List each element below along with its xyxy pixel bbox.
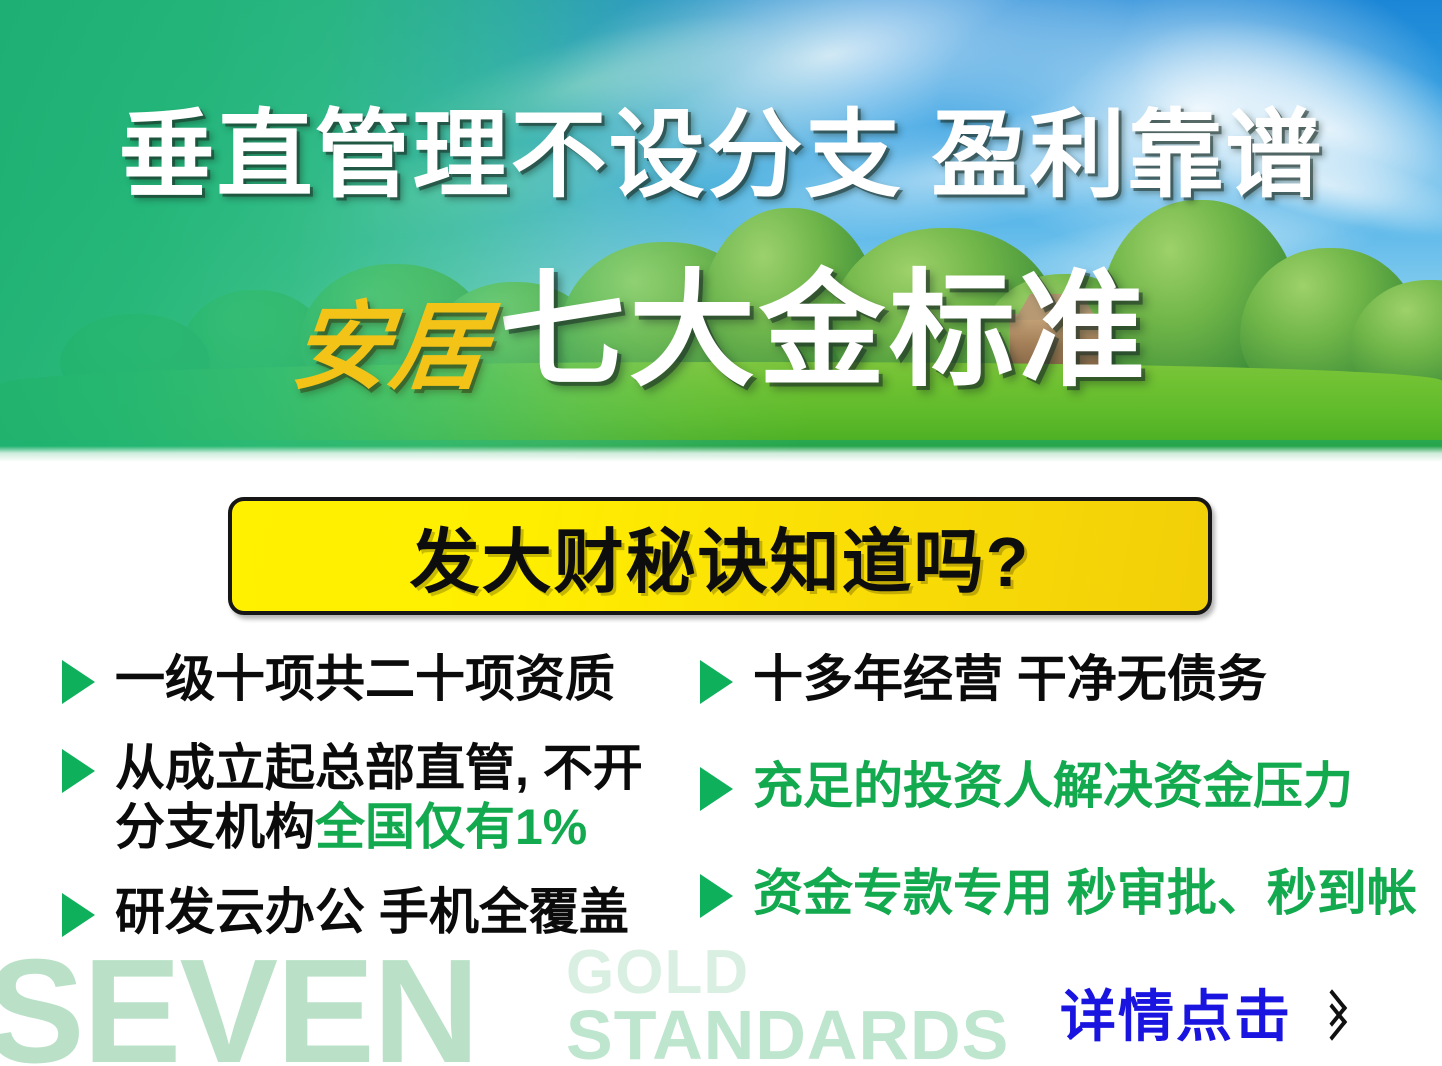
triangle-right-icon	[62, 749, 95, 793]
feature-text: 十多年经营 干净无债务	[753, 650, 1267, 709]
hero-headline: 垂直管理不设分支 盈利靠谱	[0, 108, 1442, 204]
feature-item-qualifications: 一级十项共二十项资质	[62, 650, 702, 709]
feature-text: 从成立起总部直管, 不开 分支机构全国仅有1%	[115, 739, 643, 857]
feature-line-highlight: 全国仅有1%	[315, 799, 587, 855]
triangle-right-icon	[62, 893, 95, 937]
feature-line: 一级十项共二十项资质	[115, 650, 615, 709]
feature-text: 一级十项共二十项资质	[115, 650, 615, 709]
feature-line: 研发云办公 手机全覆盖	[115, 883, 629, 942]
highlight-banner[interactable]: 发大财秘诀知道吗?	[228, 497, 1212, 615]
triangle-right-icon	[700, 660, 733, 704]
hero-subheadline: 安居七大金标准	[0, 268, 1442, 395]
triangle-right-icon	[700, 874, 733, 918]
chevron-right-icon	[1318, 990, 1342, 1036]
feature-item-headquarters-direct: 从成立起总部直管, 不开 分支机构全国仅有1%	[62, 739, 702, 857]
feature-line: 分支机构全国仅有1%	[115, 798, 643, 857]
feature-section: 一级十项共二十项资质 从成立起总部直管, 不开 分支机构全国仅有1% 研发云办公…	[0, 650, 1442, 990]
feature-line: 十多年经营 干净无债务	[753, 650, 1267, 709]
feature-line: 资金专款专用 秒审批、秒到帐	[753, 864, 1417, 923]
feature-item-investor-capital: 充足的投资人解决资金压力	[700, 757, 1420, 816]
hero-subline: 七大金标准	[499, 268, 1149, 394]
banner-bottom-fade	[0, 446, 1442, 462]
feature-item-decade-operation: 十多年经营 干净无债务	[700, 650, 1420, 709]
feature-text: 充足的投资人解决资金压力	[753, 757, 1353, 816]
feature-line: 从成立起总部直管, 不开	[115, 739, 643, 798]
hero-banner: 垂直管理不设分支 盈利靠谱 安居七大金标准	[0, 0, 1442, 462]
watermark-line-standards: STANDARDS	[566, 1000, 1009, 1066]
triangle-right-icon	[62, 660, 95, 704]
feature-item-cloud-office: 研发云办公 手机全覆盖	[62, 883, 702, 942]
feature-item-dedicated-funds: 资金专款专用 秒审批、秒到帐	[700, 864, 1420, 923]
brand-word: 安居	[288, 299, 494, 395]
triangle-right-icon	[700, 767, 733, 811]
details-cta-button[interactable]: 详情点击	[1060, 972, 1342, 1053]
feature-column-right: 十多年经营 干净无债务 充足的投资人解决资金压力 资金专款专用 秒审批、秒到帐	[700, 650, 1420, 959]
feature-text: 研发云办公 手机全覆盖	[115, 883, 629, 942]
feature-line-plain: 分支机构	[115, 799, 315, 855]
feature-line: 充足的投资人解决资金压力	[753, 757, 1353, 816]
details-cta-label: 详情点击	[1060, 972, 1292, 1053]
feature-text: 资金专款专用 秒审批、秒到帐	[753, 864, 1417, 923]
highlight-banner-text: 发大财秘诀知道吗?	[410, 506, 1031, 607]
feature-column-left: 一级十项共二十项资质 从成立起总部直管, 不开 分支机构全国仅有1% 研发云办公…	[62, 650, 702, 978]
poster-canvas: 垂直管理不设分支 盈利靠谱 安居七大金标准 发大财秘诀知道吗? 一级十项共二十项…	[0, 0, 1442, 1066]
